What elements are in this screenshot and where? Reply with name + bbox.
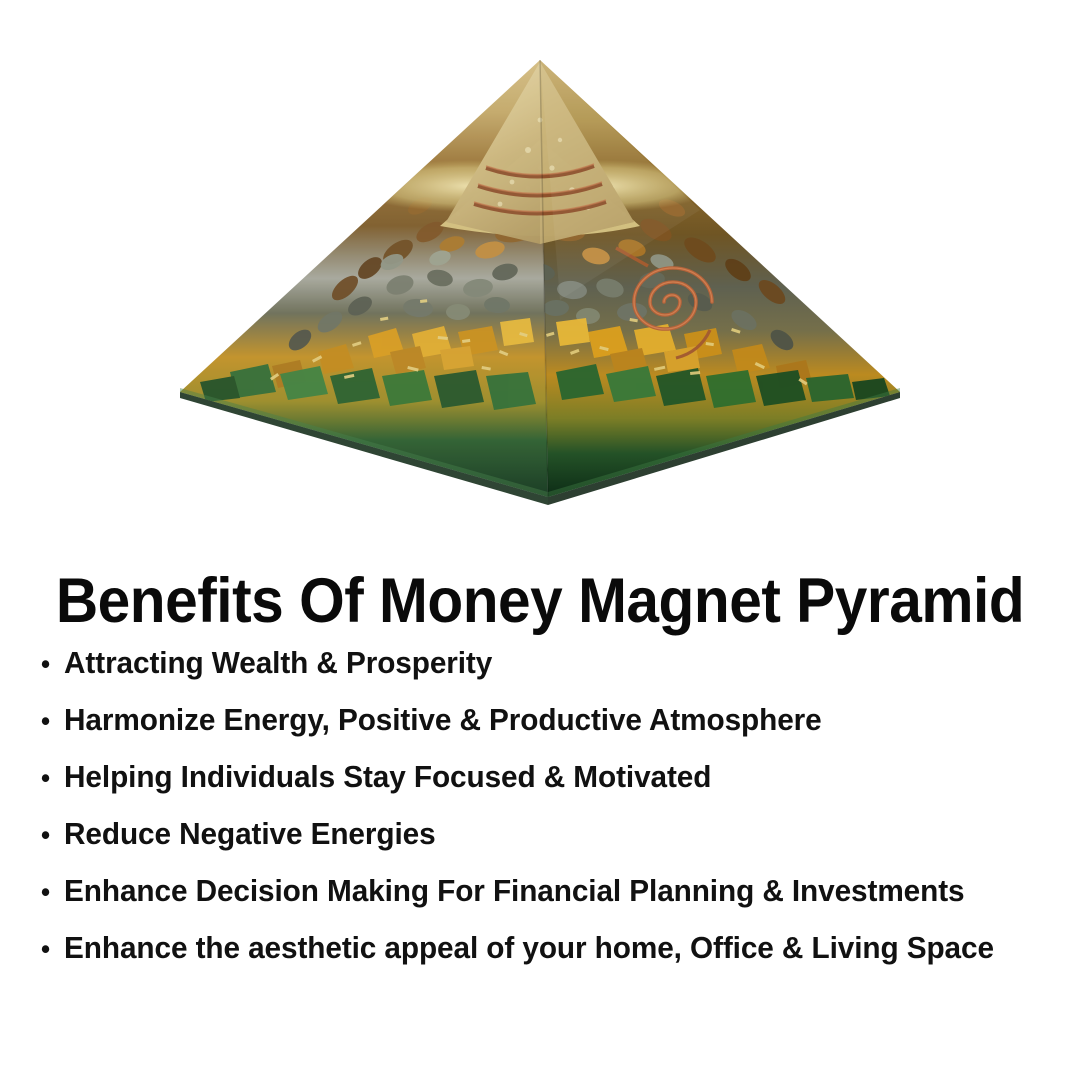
benefit-text: Enhance the aesthetic appeal of your hom… [64, 930, 994, 965]
page-title: Benefits Of Money Magnet Pyramid [38, 565, 1042, 637]
bullet-icon: • [41, 693, 64, 750]
product-image [0, 0, 1080, 520]
list-item: •Reduce Negative Energies [41, 805, 1011, 862]
orgone-pyramid-illustration [0, 0, 1080, 520]
bullet-icon: • [41, 636, 64, 693]
benefit-text: Reduce Negative Energies [64, 816, 436, 851]
list-item: •Enhance the aesthetic appeal of your ho… [41, 919, 1011, 976]
bullet-icon: • [41, 807, 64, 864]
list-item: •Enhance Decision Making For Financial P… [41, 862, 1011, 919]
product-benefits-page: Benefits Of Money Magnet Pyramid •Attrac… [0, 0, 1080, 1072]
benefit-text: Attracting Wealth & Prosperity [64, 645, 492, 680]
bullet-icon: • [41, 864, 64, 921]
benefit-text: Helping Individuals Stay Focused & Motiv… [64, 759, 711, 794]
list-item: •Helping Individuals Stay Focused & Moti… [41, 748, 1011, 805]
list-item: •Attracting Wealth & Prosperity [41, 634, 1011, 691]
benefit-text: Harmonize Energy, Positive & Productive … [64, 702, 822, 737]
bullet-icon: • [41, 750, 64, 807]
benefit-text: Enhance Decision Making For Financial Pl… [64, 873, 964, 908]
benefits-list: •Attracting Wealth & Prosperity •Harmoni… [41, 634, 1051, 976]
list-item: •Harmonize Energy, Positive & Productive… [41, 691, 1011, 748]
bullet-icon: • [41, 921, 64, 978]
